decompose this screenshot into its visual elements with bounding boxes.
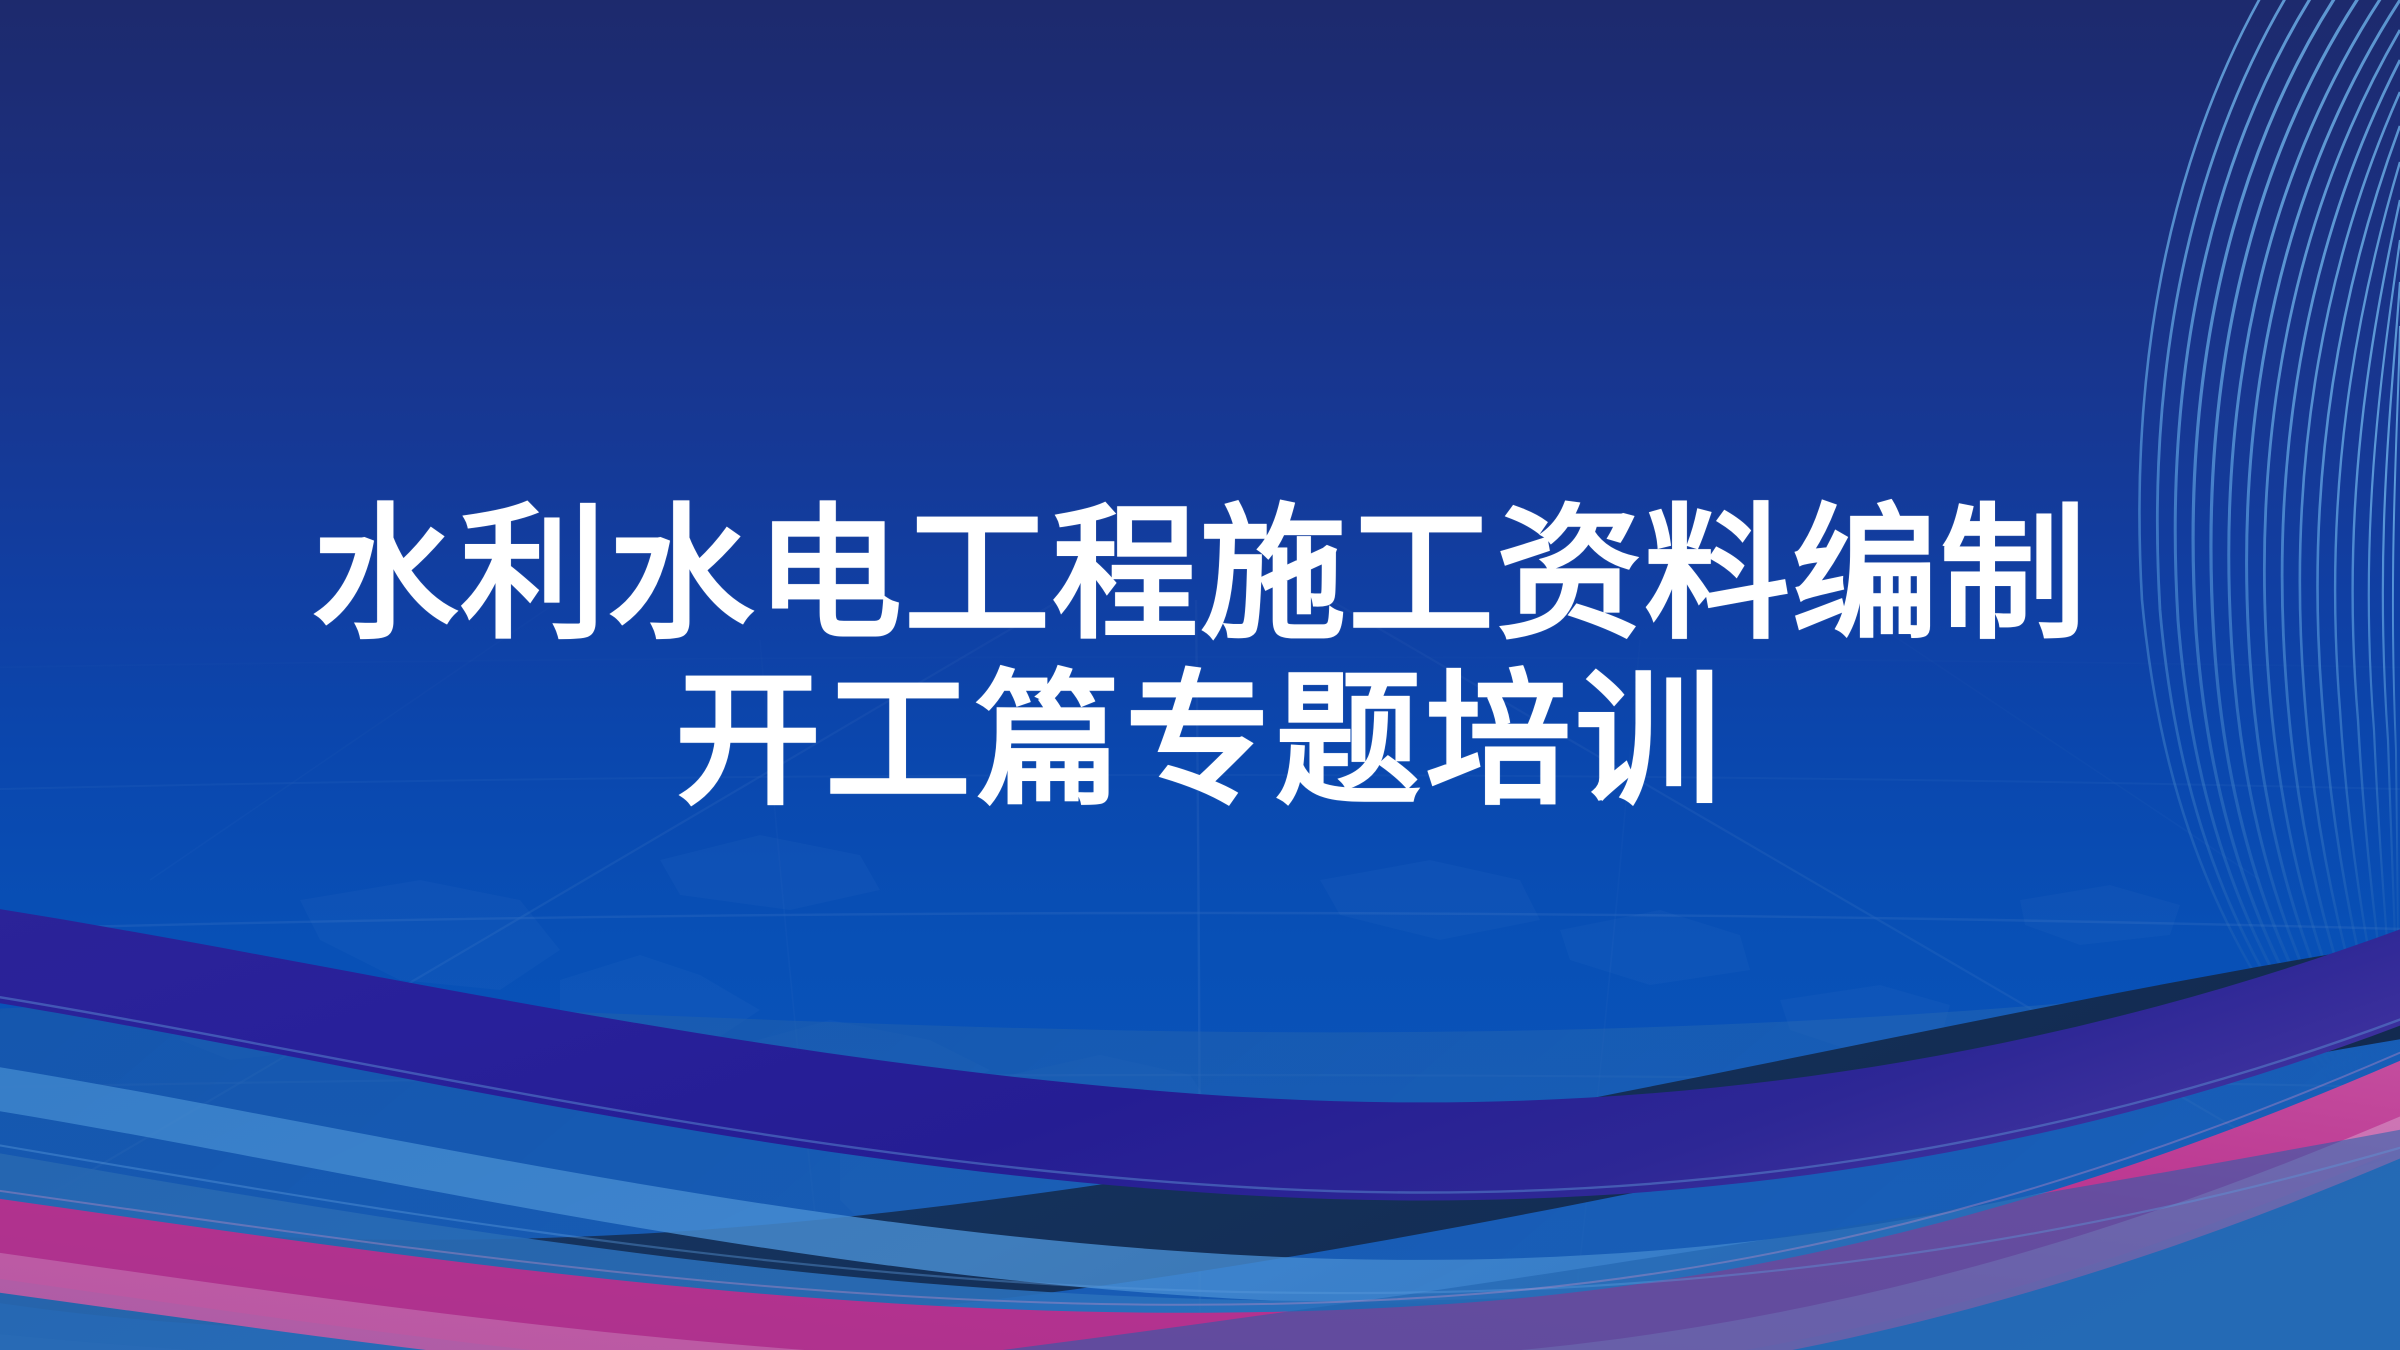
ribbon-decoration xyxy=(0,0,2400,1350)
title-slide: 水利水电工程施工资料编制 开工篇专题培训 xyxy=(0,0,2400,1350)
